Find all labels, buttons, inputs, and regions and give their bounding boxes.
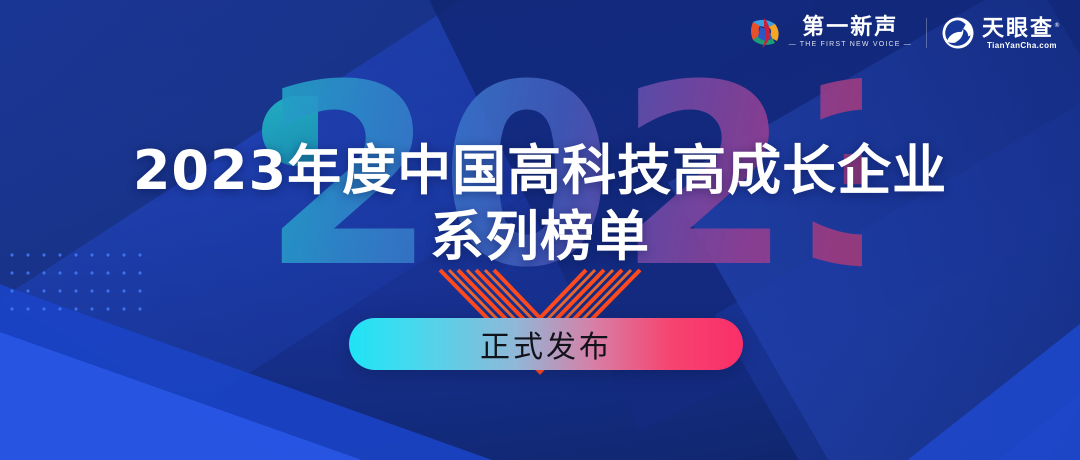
logo-tianyancha-name-text: 天眼查 xyxy=(982,16,1054,41)
headline-line-2: 系列榜单 xyxy=(0,204,1080,270)
triangle-bottom-right-soft xyxy=(990,346,1080,460)
logo-tianyancha-tagline: TianYanCha.com xyxy=(987,41,1057,51)
logo-diyixinsheng-name: 第一新声 xyxy=(802,16,898,40)
logo-tianyancha-name: 天眼查® xyxy=(982,14,1062,41)
logo-diyixinsheng[interactable]: 第一新声 — THE FIRST NEW VOICE — xyxy=(748,15,912,51)
release-status-label: 正式发布 xyxy=(480,322,612,366)
logo-tianyancha[interactable]: 天眼查® TianYanCha.com xyxy=(941,14,1062,51)
headline-block: 2023年度中国高科技高成长企业 系列榜单 xyxy=(0,138,1080,270)
triangle-bottom-right xyxy=(900,316,1080,460)
diyixinsheng-mark-icon xyxy=(748,15,782,51)
logo-diyixinsheng-tagline: — THE FIRST NEW VOICE — xyxy=(789,40,912,50)
promo-banner: 2023 2023年度中国高科技高成长企业 系列榜单 正式发布 xyxy=(0,0,1080,460)
logo-bar: 第一新声 — THE FIRST NEW VOICE — 天眼查® TianYa… xyxy=(748,14,1062,51)
tianyancha-eye-icon xyxy=(941,16,975,50)
registered-trademark-icon: ® xyxy=(1054,22,1062,29)
headline-line-1: 2023年度中国高科技高成长企业 xyxy=(0,138,1080,204)
triangle-bottom-left-bright xyxy=(0,318,390,460)
logo-divider xyxy=(926,18,927,48)
release-status-pill[interactable]: 正式发布 xyxy=(349,318,743,370)
